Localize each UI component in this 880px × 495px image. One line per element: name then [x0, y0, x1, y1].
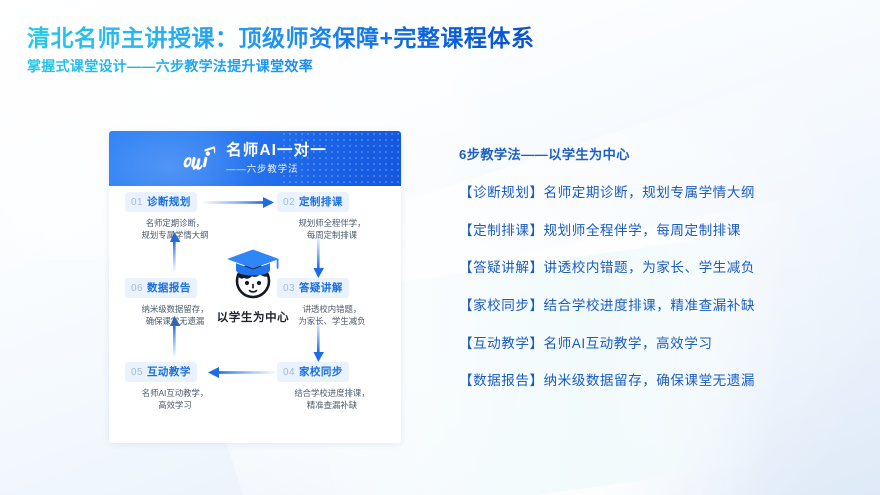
- six-step-diagram: 以学生为中心 01诊断规划 名师定期诊断， 规划专属学情大纲 02定制排课 规划…: [109, 186, 401, 443]
- slide-canvas: 清北名师主讲授课：顶级师资保障+完整课程体系 掌握式课堂设计——六步教学法提升课…: [0, 0, 880, 495]
- step-01: 01诊断规划 名师定期诊断， 规划专属学情大纲: [125, 192, 233, 241]
- step-03-number: 03: [283, 283, 295, 294]
- step-04-badge: 04家校同步: [277, 362, 349, 382]
- step-03-name: 答疑讲解: [299, 282, 343, 294]
- step-04-desc: 结合学校进度排课， 精准查漏补缺: [277, 387, 385, 411]
- step-05-badge: 05互动教学: [125, 362, 197, 382]
- point-item-2: 【定制排课】规划师全程伴学，每周定制排课: [459, 223, 859, 239]
- point-item-6: 【数据报告】纳米级数据留存，确保课堂无遗漏: [459, 373, 859, 389]
- step-03: 03答疑讲解 讲透校内错题， 为家长、学生减负: [277, 278, 385, 327]
- point-item-1: 【诊断规划】名师定期诊断，规划专属学情大纲: [459, 185, 859, 201]
- brand-title: 名师AI一对一: [226, 143, 327, 159]
- page-subtitle: 掌握式课堂设计——六步教学法提升课堂效率: [27, 59, 534, 74]
- step-06: 06数据报告 纳米级数据留存， 确保课堂无遗漏: [125, 278, 233, 327]
- brand-logo-icon: [183, 145, 217, 173]
- step-02-badge: 02定制排课: [277, 192, 349, 212]
- step-05: 05互动教学 名师AI互动教学， 高效学习: [125, 362, 233, 411]
- page-title: 清北名师主讲授课：顶级师资保障+完整课程体系: [27, 26, 534, 51]
- point-item-5: 【互动教学】名师AI互动教学，高效学习: [459, 336, 859, 352]
- card-header: 名师AI一对一 ——六步教学法: [109, 131, 401, 186]
- step-05-name: 互动教学: [147, 366, 191, 378]
- key-points-list: 6步教学法——以学生为中心 【诊断规划】名师定期诊断，规划专属学情大纲 【定制排…: [459, 144, 859, 389]
- point-item-3: 【答疑讲解】讲透校内错题，为家长、学生减负: [459, 260, 859, 276]
- step-02-desc: 规划师全程伴学， 每周定制排课: [277, 217, 385, 241]
- step-01-desc: 名师定期诊断， 规划专属学情大纲: [125, 217, 233, 241]
- step-06-desc: 纳米级数据留存， 确保课堂无遗漏: [125, 303, 233, 327]
- points-lead: 6步教学法——以学生为中心: [459, 144, 859, 163]
- title-block: 清北名师主讲授课：顶级师资保障+完整课程体系 掌握式课堂设计——六步教学法提升课…: [27, 26, 534, 75]
- step-02: 02定制排课 规划师全程伴学， 每周定制排课: [277, 192, 385, 241]
- brand-subtitle: ——六步教学法: [226, 165, 327, 175]
- step-01-badge: 01诊断规划: [125, 192, 197, 212]
- step-04-name: 家校同步: [299, 366, 343, 378]
- step-04-number: 04: [283, 367, 295, 378]
- point-item-4: 【家校同步】结合学校进度排课，精准查漏补缺: [459, 298, 859, 314]
- step-05-desc: 名师AI互动教学， 高效学习: [125, 387, 233, 411]
- step-06-badge: 06数据报告: [125, 278, 197, 298]
- teaching-method-card: 名师AI一对一 ——六步教学法: [109, 131, 401, 443]
- step-04: 04家校同步 结合学校进度排课， 精准查漏补缺: [277, 362, 385, 411]
- step-01-number: 01: [131, 197, 143, 208]
- step-03-desc: 讲透校内错题， 为家长、学生减负: [277, 303, 385, 327]
- step-06-number: 06: [131, 283, 143, 294]
- step-05-number: 05: [131, 367, 143, 378]
- step-01-name: 诊断规划: [147, 196, 191, 208]
- step-02-name: 定制排课: [299, 196, 343, 208]
- step-06-name: 数据报告: [147, 282, 191, 294]
- step-02-number: 02: [283, 197, 295, 208]
- step-03-badge: 03答疑讲解: [277, 278, 349, 298]
